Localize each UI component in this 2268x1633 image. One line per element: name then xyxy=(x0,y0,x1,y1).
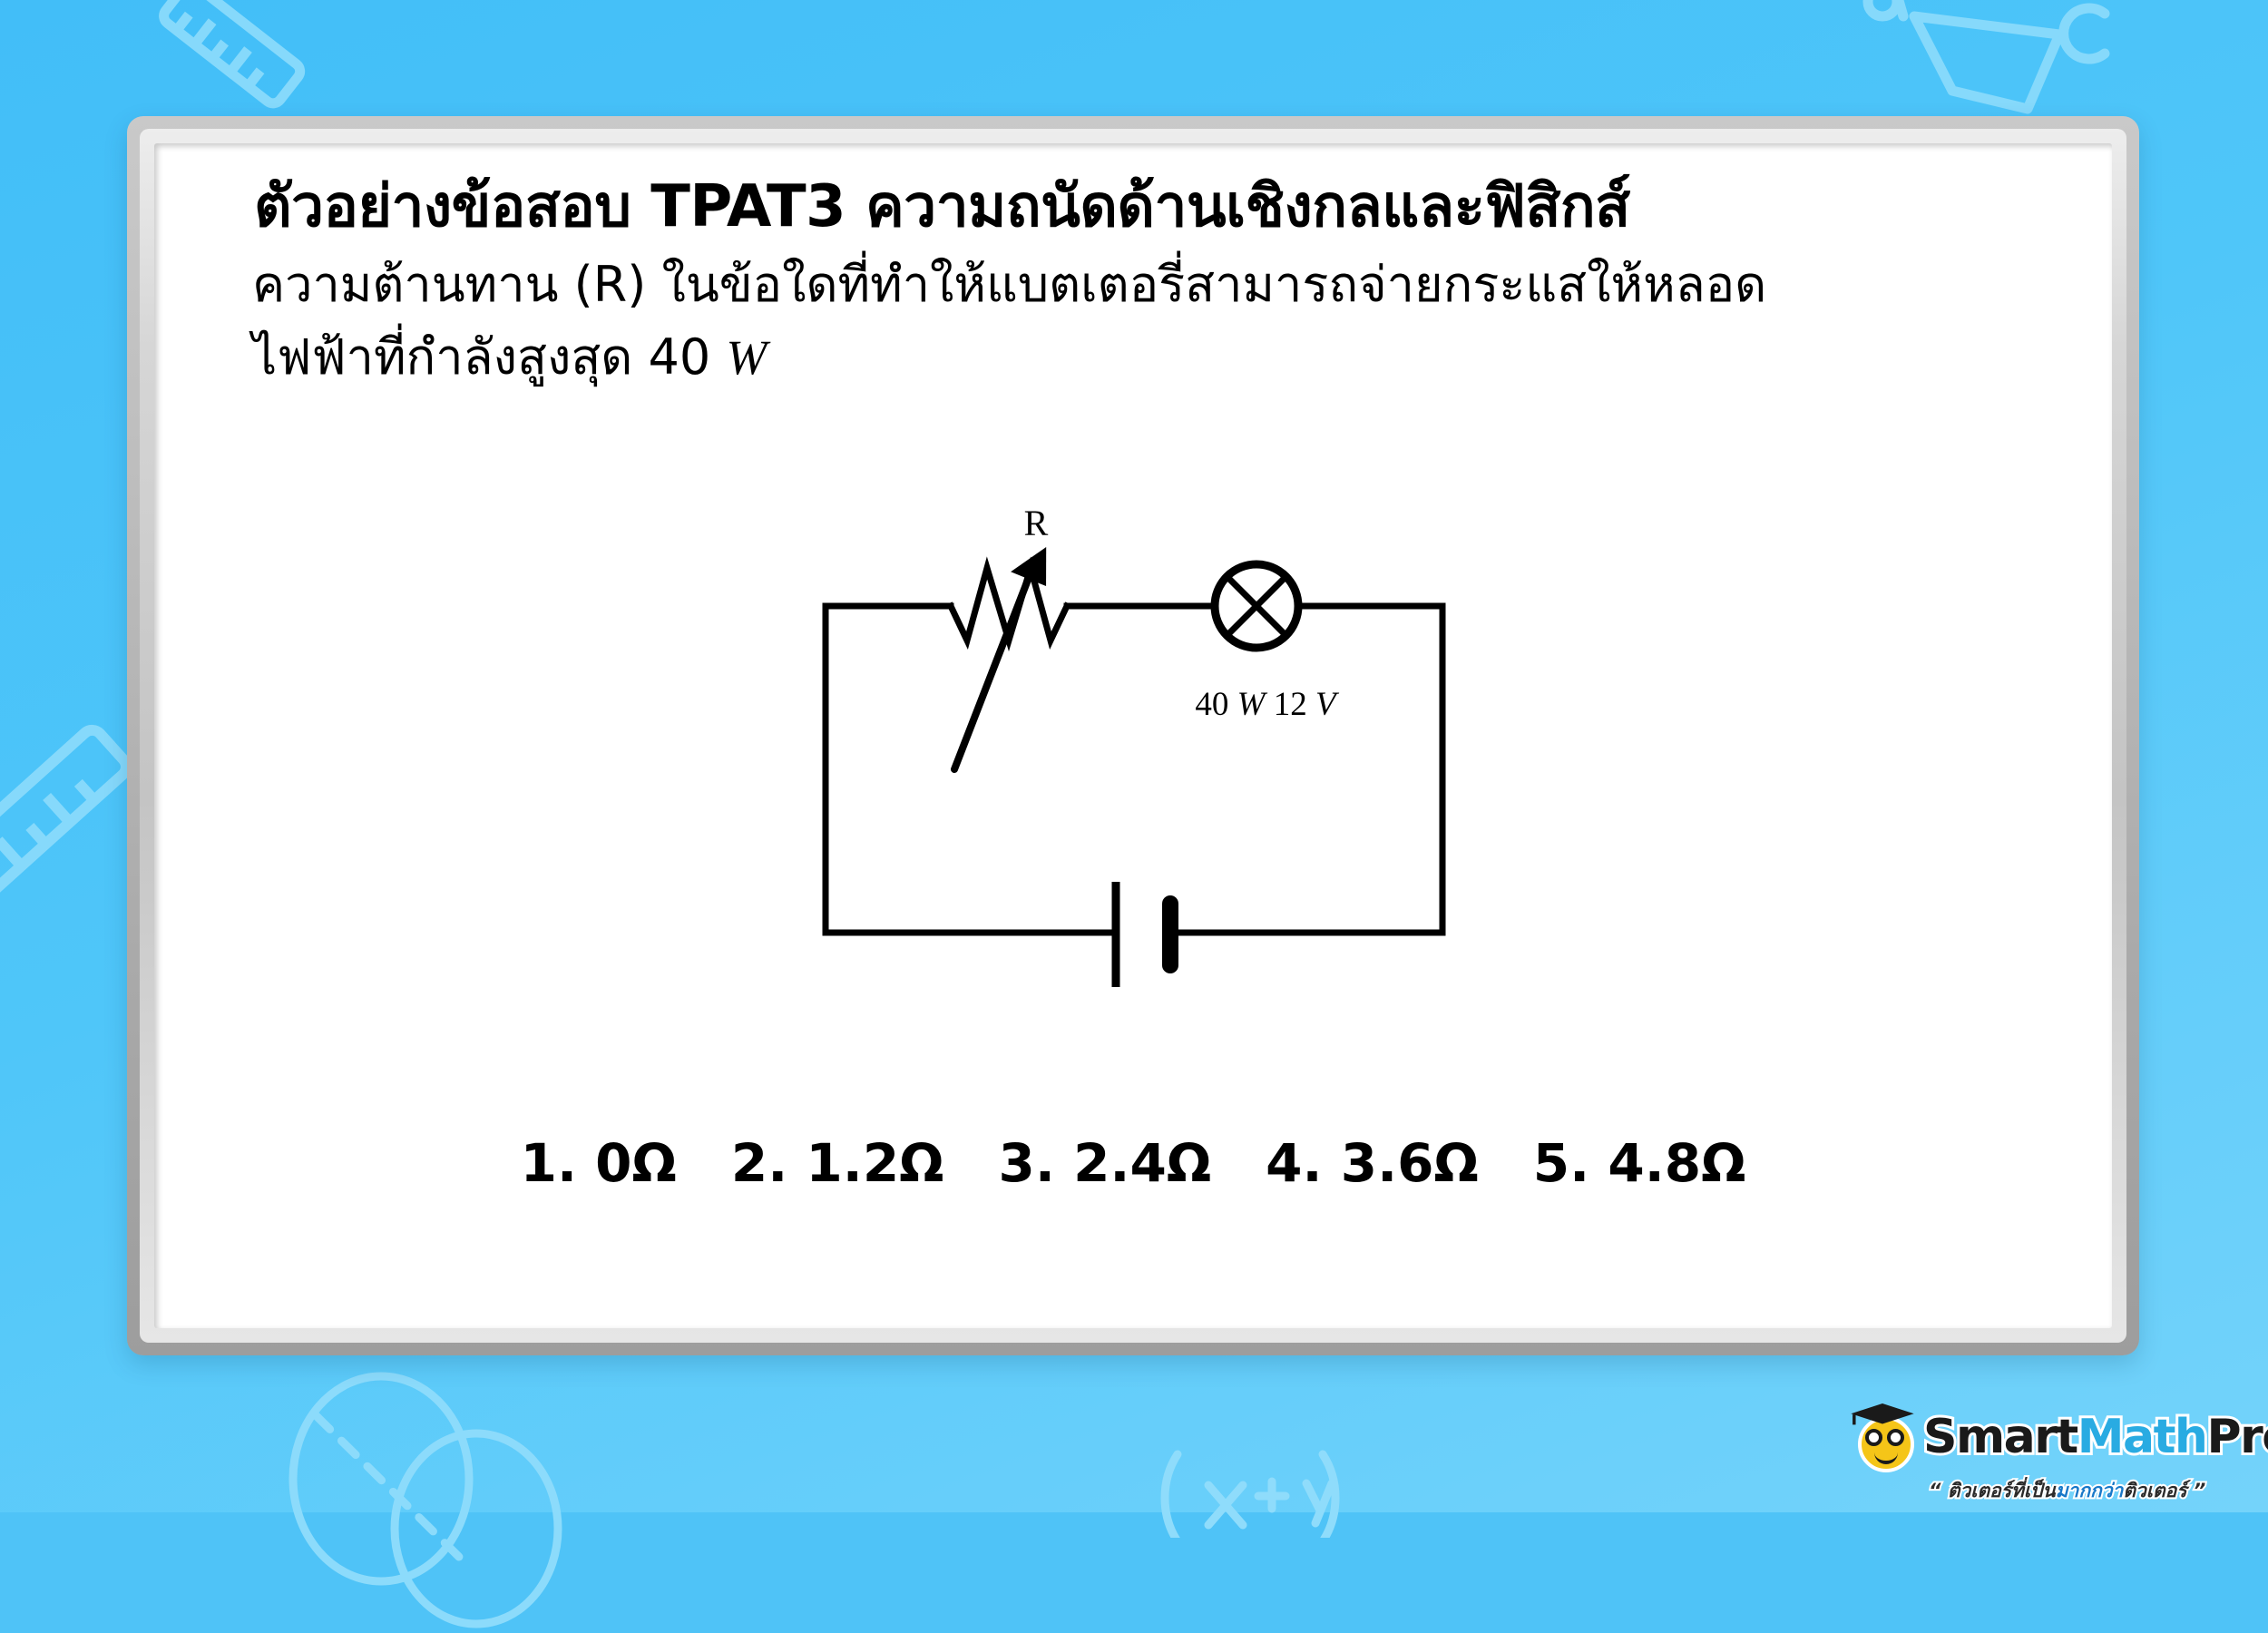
tagline-quote-close: ” xyxy=(2186,1480,2205,1501)
choice-option-5[interactable]: 5. 4.8Ω xyxy=(1533,1132,1746,1194)
lamp-voltage-unit: V xyxy=(1315,686,1340,723)
lamp-power-unit: W xyxy=(1237,686,1268,723)
choice-option-4[interactable]: 4. 3.6Ω xyxy=(1266,1132,1479,1194)
question-power-unit: W xyxy=(726,330,767,385)
question-line-2-text: ไฟฟ้าที่กำลังสูงสุด 40 xyxy=(252,328,726,386)
question-line-2: ไฟฟ้าที่กำลังสูงสุด 40 W xyxy=(252,318,767,396)
logo-word-pro: Pro xyxy=(2206,1410,2268,1464)
venn-doodle-bottom-left xyxy=(272,1361,653,1633)
whiteboard-frame: ตัวอย่างข้อสอบ TPAT3 ความถนัดด้านเชิงกลแ… xyxy=(127,116,2139,1355)
page-title: ตัวอย่างข้อสอบ TPAT3 ความถนัดด้านเชิงกลแ… xyxy=(254,160,1630,252)
smartmathpro-logo: SmartMathPro “ ติวเตอร์ที่เป็นมากกว่าติว… xyxy=(1851,1402,2250,1503)
lamp-voltage-value: 12 xyxy=(1265,686,1315,723)
logo-tagline: “ ติวเตอร์ที่เป็นมากกว่าติวเตอร์ ” xyxy=(1929,1476,2205,1506)
choice-option-1[interactable]: 1. 0Ω xyxy=(521,1132,677,1194)
resistor-label: R xyxy=(1024,503,1049,543)
eye-left-icon xyxy=(1865,1429,1882,1446)
logo-row: SmartMathPro xyxy=(1851,1402,2268,1472)
lamp-power-value: 40 xyxy=(1195,686,1237,723)
tagline-quote-open: “ xyxy=(1929,1480,1948,1501)
battery-symbol xyxy=(1116,882,1170,987)
lamp-symbol xyxy=(1215,564,1298,648)
graduation-cap-icon xyxy=(1849,1403,1916,1427)
graduate-face-icon xyxy=(1851,1402,1921,1472)
logo-word-math: Math xyxy=(2077,1410,2207,1464)
x-plus-y-doodle xyxy=(1134,1438,1370,1538)
eye-right-icon xyxy=(1887,1429,1904,1446)
answer-choices: 1. 0Ω 2. 1.2Ω 3. 2.4Ω 4. 3.6Ω 5. 4.8Ω xyxy=(154,1132,2112,1194)
whiteboard-surface: ตัวอย่างข้อสอบ TPAT3 ความถนัดด้านเชิงกลแ… xyxy=(154,143,2112,1328)
circuit-diagram: R 40 W 12 V ε = 12 V xyxy=(789,497,1479,1005)
choice-option-2[interactable]: 2. 1.2Ω xyxy=(731,1132,944,1194)
tagline-part-2: มากกว่า xyxy=(2056,1480,2124,1501)
lamp-rating-label: 40 W 12 V xyxy=(1195,686,1340,723)
tagline-part-3: ติวเตอร์ xyxy=(2123,1480,2186,1501)
question-line-1: ความต้านทาน (R) ในข้อใดที่ทำให้แบตเตอรี่… xyxy=(252,245,1766,323)
choice-option-3[interactable]: 3. 2.4Ω xyxy=(998,1132,1211,1194)
logo-wordmark: SmartMathPro xyxy=(1923,1413,2268,1461)
arrow-head-icon xyxy=(1011,538,1060,586)
logo-word-smart: Smart xyxy=(1923,1410,2077,1464)
tagline-part-1: ติวเตอร์ที่เป็น xyxy=(1948,1480,2056,1501)
